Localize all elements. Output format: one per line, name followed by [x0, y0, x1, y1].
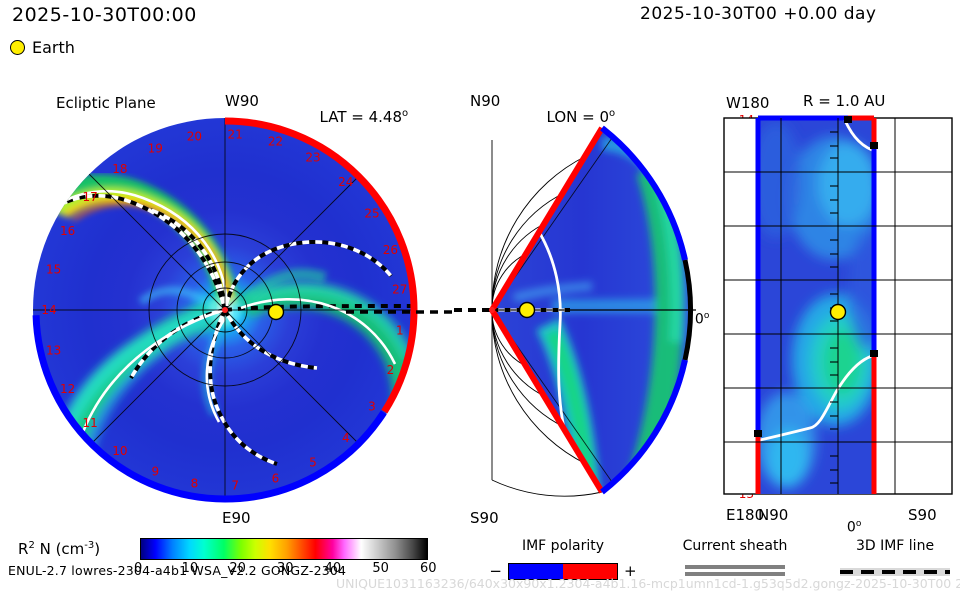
- ecliptic-tick-14: 14: [41, 303, 56, 317]
- radial-x-label-zero: 0o: [838, 506, 861, 535]
- ecliptic-tick-11: 11: [83, 416, 98, 430]
- current-sheath-caption: Current sheath: [660, 538, 810, 554]
- colorbar-tick-50: 50: [372, 561, 389, 576]
- ecliptic-tick-10: 10: [112, 444, 127, 458]
- colorbar-tick-60: 60: [420, 561, 437, 576]
- ecliptic-tick-25: 25: [364, 206, 379, 220]
- ecliptic-tick-9: 9: [151, 465, 159, 479]
- ecliptic-tick-4: 4: [342, 431, 350, 445]
- colorbar-label-rest: N (cm: [35, 540, 84, 558]
- watermark-text: UNIQUE1031163236/640x30x90x1.2304-a4b1.1…: [336, 578, 960, 591]
- imf-line-caption: 3D IMF line: [830, 538, 960, 554]
- ecliptic-bottom-axis-label: E90: [222, 511, 251, 526]
- sheath-line-top: [685, 565, 785, 569]
- current-sheath-legend: Current sheath: [660, 538, 810, 579]
- colorbar-label: R2 N (cm-3): [18, 540, 100, 558]
- sun-marker: [222, 307, 228, 313]
- imf-line-legend: 3D IMF line: [830, 538, 960, 578]
- ecliptic-tick-2: 2: [387, 363, 395, 377]
- ecliptic-tick-13: 13: [46, 344, 61, 358]
- imf-polarity-legend: IMF polarity − +: [478, 538, 648, 580]
- radial-cut-plot[interactable]: [716, 110, 960, 502]
- colorbar-label-r: R: [18, 540, 28, 558]
- earth-marker-ecliptic: [269, 305, 284, 320]
- meridional-bottom-axis-label: S90: [470, 511, 499, 526]
- earth-legend-label: Earth: [32, 38, 75, 57]
- ecliptic-tick-26: 26: [383, 243, 398, 257]
- imf-line-dashes: [840, 570, 950, 574]
- ecliptic-tick-22: 22: [268, 134, 283, 148]
- panel-connector-dashed-line: [346, 300, 456, 324]
- earth-marker-icon: [10, 40, 25, 55]
- ecliptic-tick-8: 8: [191, 476, 199, 490]
- radial-x-label-s90: S90: [908, 508, 937, 523]
- imf-polarity-caption: IMF polarity: [478, 538, 648, 554]
- ecliptic-tick-6: 6: [272, 472, 280, 486]
- meridional-top-axis-label: N90: [470, 94, 500, 109]
- model-info-text: ENUL-2.7 lowres-2304-a4b1 WSA_V2.2 GONGZ…: [8, 565, 346, 578]
- colorbar-label-close: ): [94, 540, 100, 558]
- title-datetime: 2025-10-30T00:00: [12, 6, 197, 25]
- radial-density-field: [750, 118, 884, 494]
- ecliptic-tick-15: 15: [46, 262, 61, 276]
- earth-marker-radial: [831, 305, 846, 320]
- forecast-epoch-label: 2025-10-30T00 +0.00 day: [640, 6, 876, 23]
- ecliptic-tick-18: 18: [112, 162, 127, 176]
- meridional-plane-plot[interactable]: [452, 110, 702, 510]
- ecliptic-tick-24: 24: [338, 175, 353, 189]
- radial-x-zero-value: 0: [847, 520, 856, 536]
- ecliptic-tick-1: 1: [396, 323, 404, 337]
- radial-panel-title: R = 1.0 AU: [803, 94, 885, 109]
- earth-marker-meridional: [520, 303, 535, 318]
- ecliptic-tick-7: 7: [231, 479, 239, 493]
- sun-marker-meridional: [489, 307, 495, 313]
- radial-top-left-label: W180: [726, 96, 769, 111]
- colorbar-label-exp2: -3: [84, 540, 94, 551]
- ecliptic-tick-5: 5: [309, 455, 317, 469]
- ecliptic-tick-27: 27: [392, 283, 407, 297]
- ecliptic-tick-12: 12: [60, 382, 75, 396]
- colorbar-gradient[interactable]: [140, 538, 428, 560]
- ecliptic-tick-20: 20: [187, 130, 202, 144]
- current-sheath-sample: [660, 565, 810, 576]
- ecliptic-top-axis-label: W90: [225, 94, 259, 109]
- meridional-right-degree-symbol: o: [704, 311, 710, 321]
- earth-legend: Earth: [10, 38, 75, 57]
- ecliptic-panel-title: Ecliptic Plane: [56, 96, 156, 111]
- ecliptic-tick-23: 23: [305, 151, 320, 165]
- radial-x-label-n90: N90: [758, 508, 788, 523]
- ecliptic-tick-21: 21: [228, 127, 243, 141]
- ecliptic-tick-19: 19: [148, 141, 163, 155]
- radial-x-degree-symbol: o: [856, 519, 862, 529]
- ecliptic-tick-17: 17: [83, 190, 98, 204]
- ecliptic-tick-3: 3: [368, 400, 376, 414]
- ecliptic-tick-16: 16: [60, 224, 75, 238]
